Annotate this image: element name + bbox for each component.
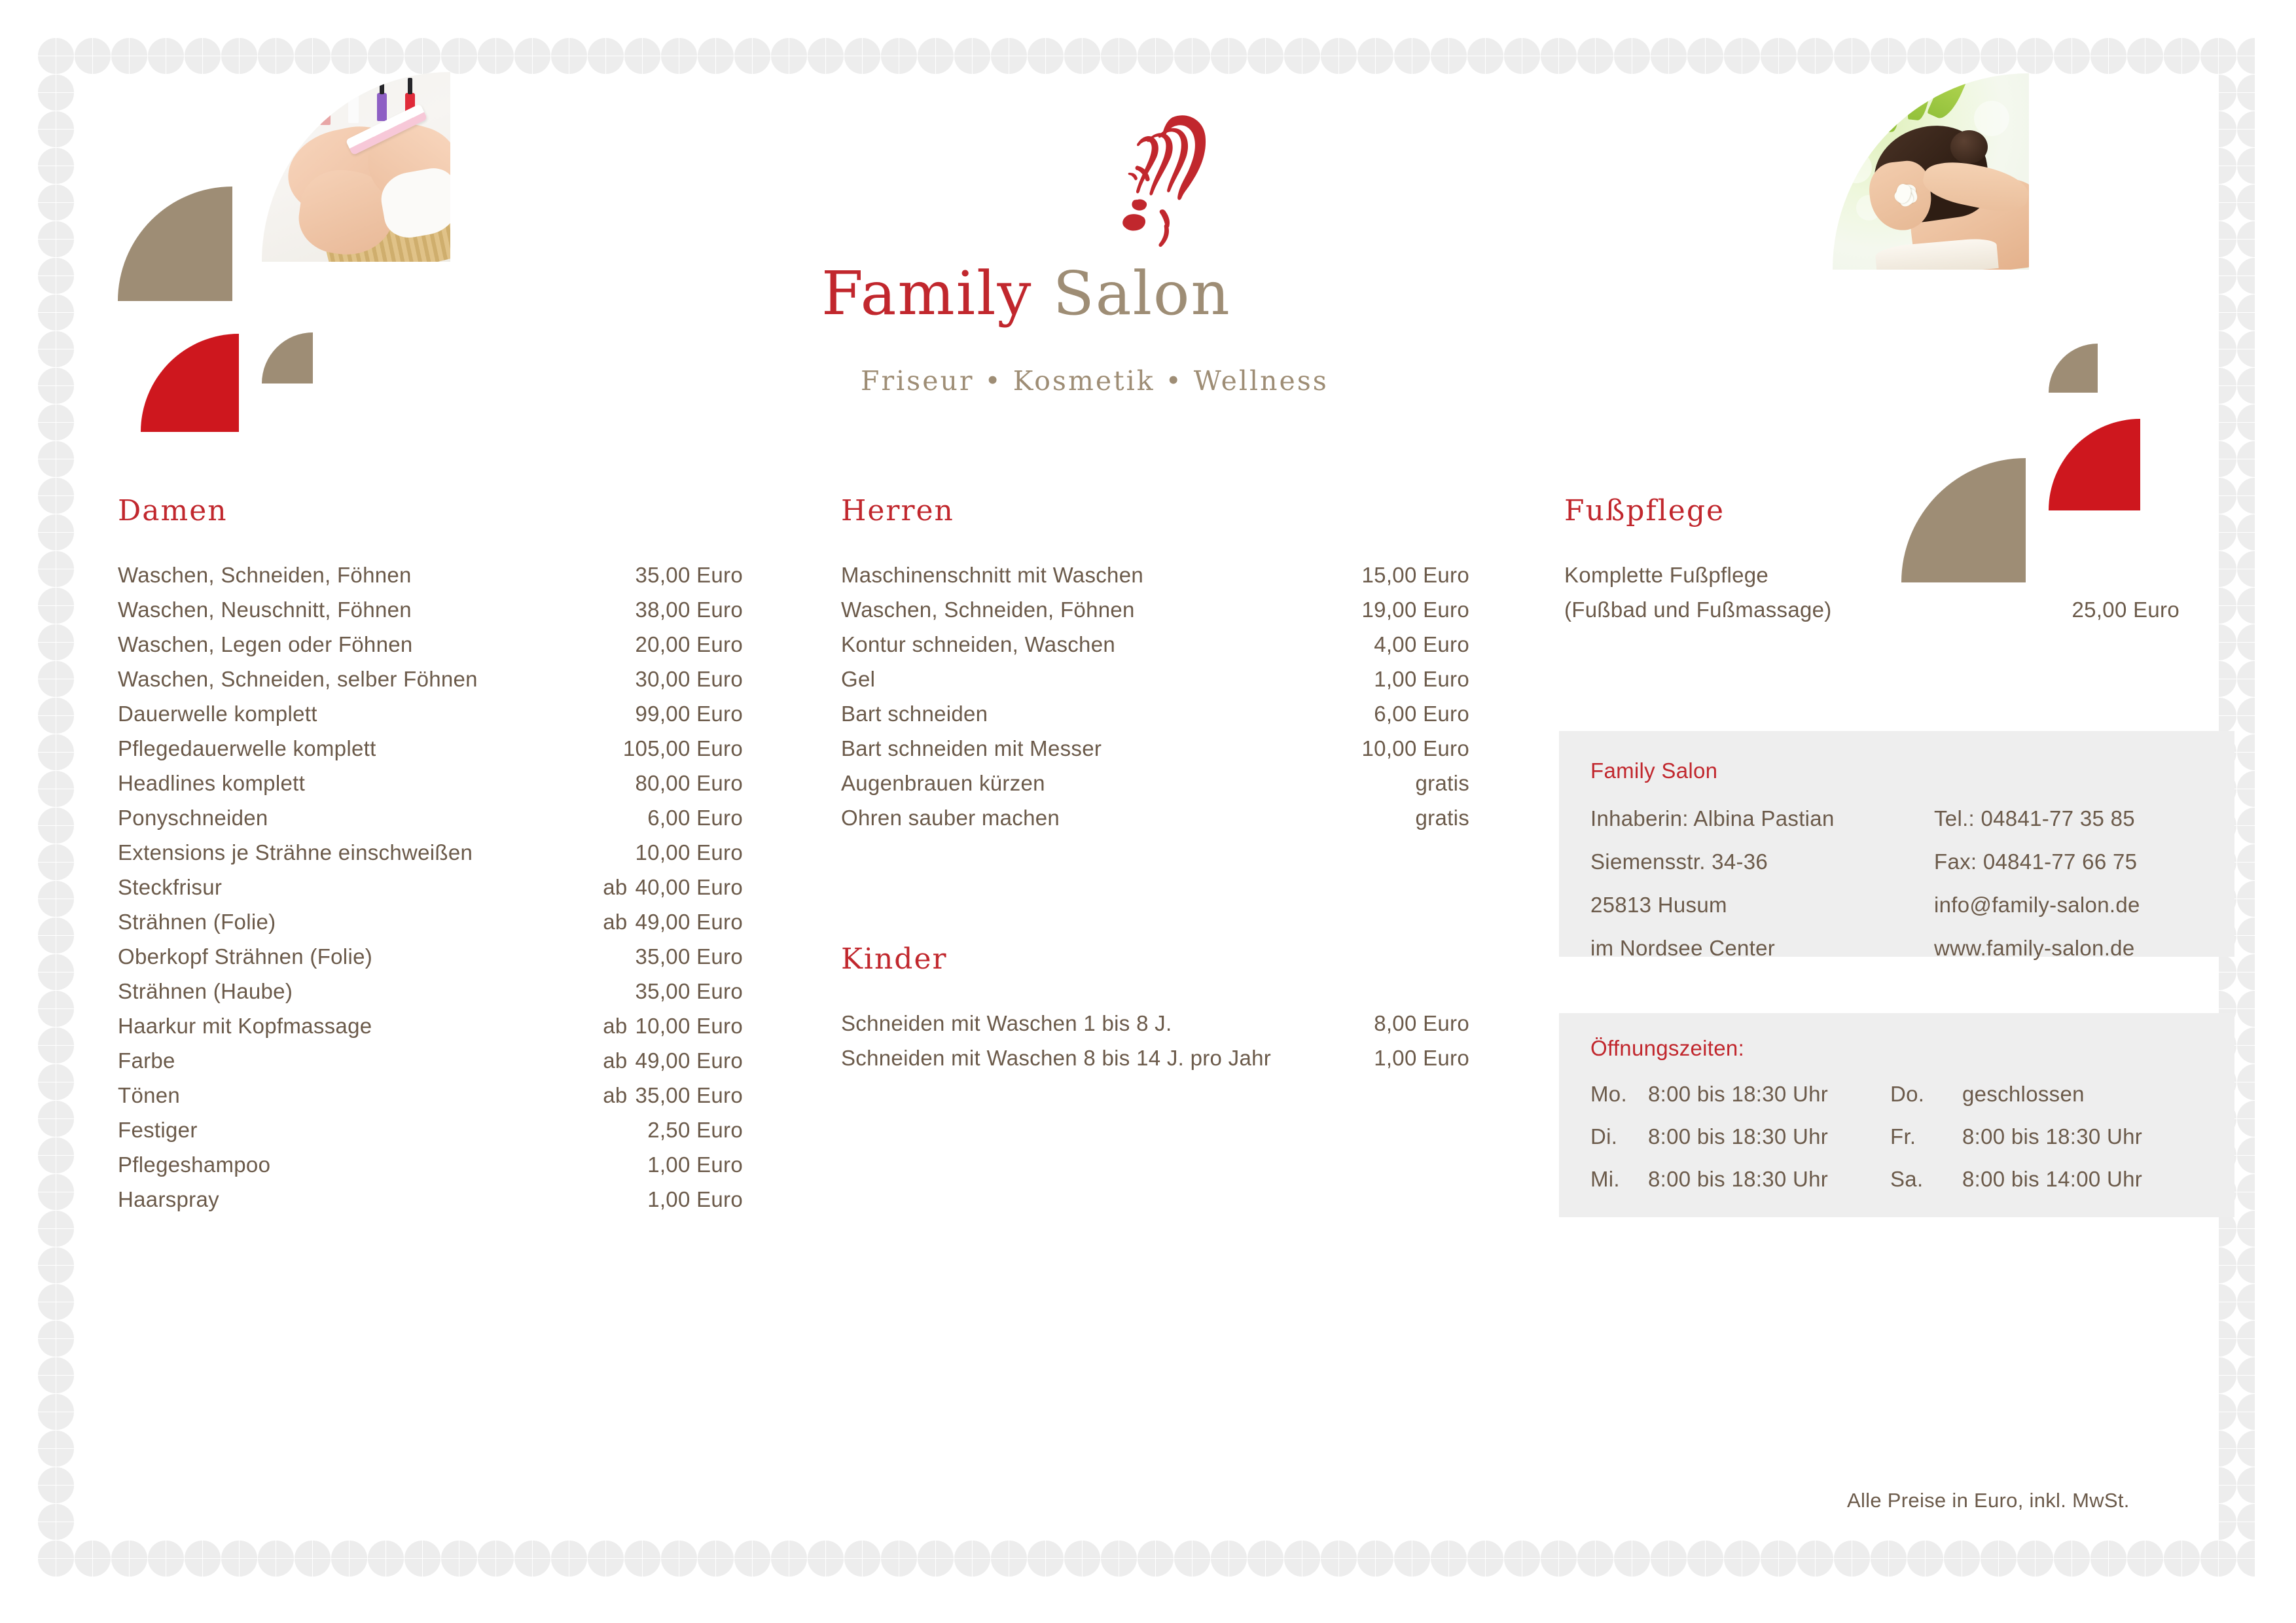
price-row: Farbeab49,00 Euro (118, 1043, 743, 1078)
decor-petal-taupe-left-small (262, 332, 313, 383)
price-row: Ohren sauber machengratis (841, 800, 1469, 835)
price-row: Maschinenschnitt mit Waschen15,00 Euro (841, 558, 1469, 592)
contact-address-line: 25813 Husum (1590, 893, 1934, 918)
brand-title: Family Salon (821, 259, 1231, 329)
price-row-label: Headlines komplett (118, 772, 628, 794)
price-row-label: Steckfrisur (118, 876, 603, 898)
price-row-label: Augenbrauen kürzen (841, 772, 1408, 794)
price-row-label: Haarkur mit Kopfmassage (118, 1015, 603, 1037)
price-row-label: Tönen (118, 1084, 603, 1106)
price-row-label: Waschen, Schneiden, Föhnen (118, 564, 628, 586)
price-row-amount: 6,00 Euro (647, 807, 743, 829)
price-row-label: Bart schneiden (841, 703, 1366, 724)
price-row-prefix: ab (603, 1084, 635, 1106)
price-row-amount: 35,00 Euro (636, 946, 743, 967)
price-row: Gel1,00 Euro (841, 662, 1469, 696)
price-row: Pflegedauerwelle komplett105,00 Euro (118, 731, 743, 766)
price-row-label: Farbe (118, 1050, 603, 1071)
contact-channel-line: info@family-salon.de (1934, 893, 2206, 918)
price-row: Oberkopf Strähnen (Folie)35,00 Euro (118, 939, 743, 974)
price-row-prefix: ab (603, 911, 635, 933)
price-row-label: Pflegedauerwelle komplett (118, 738, 615, 759)
price-row-amount: 49,00 Euro (636, 911, 743, 933)
section-herren: Herren Maschinenschnitt mit Waschen15,00… (841, 494, 1469, 835)
price-row-label: Oberkopf Strähnen (Folie) (118, 946, 628, 967)
price-row-amount: 80,00 Euro (636, 772, 743, 794)
opening-hours-time-value: 8:00 bis 14:00 Uhr (1962, 1167, 2212, 1192)
price-row-amount: 38,00 Euro (636, 599, 743, 620)
price-row: Festiger2,50 Euro (118, 1113, 743, 1147)
opening-hours-time-value: 8:00 bis 18:30 Uhr (1648, 1082, 1890, 1107)
price-row: Waschen, Schneiden, Föhnen19,00 Euro (841, 592, 1469, 627)
price-row-amount: 25,00 Euro (2072, 599, 2179, 620)
contact-channel-line: Tel.: 04841-77 35 85 (1934, 806, 2206, 831)
price-row-amount: 1,00 Euro (1374, 1047, 1469, 1069)
price-row-amount: 10,00 Euro (636, 1015, 743, 1037)
price-row-label: Ohren sauber machen (841, 807, 1408, 829)
price-row-prefix: ab (603, 1050, 635, 1071)
price-row: Bart schneiden6,00 Euro (841, 696, 1469, 731)
price-row-label: Pflegeshampoo (118, 1154, 639, 1175)
price-row-amount: 10,00 Euro (1362, 738, 1469, 759)
price-row: Haarkur mit Kopfmassageab10,00 Euro (118, 1008, 743, 1043)
price-row: Schneiden mit Waschen 8 bis 14 J. pro Ja… (841, 1041, 1469, 1075)
price-footnote: Alle Preise in Euro, inkl. MwSt. (1847, 1489, 2130, 1512)
price-row-amount: 35,00 Euro (636, 564, 743, 586)
contact-channel-line: www.family-salon.de (1934, 936, 2206, 961)
price-row-label: Waschen, Legen oder Föhnen (118, 633, 628, 655)
price-row-label: Haarspray (118, 1188, 639, 1210)
decor-petal-taupe-left-top (118, 187, 232, 301)
price-row-label: Schneiden mit Waschen 1 bis 8 J. (841, 1012, 1366, 1034)
price-row-amount: 49,00 Euro (636, 1050, 743, 1071)
price-row-amount: 19,00 Euro (1362, 599, 1469, 620)
price-row: Pflegeshampoo1,00 Euro (118, 1147, 743, 1182)
price-list-herren: Maschinenschnitt mit Waschen15,00 EuroWa… (841, 558, 1469, 835)
contact-details: Inhaberin: Albina PastianTel.: 04841-77 … (1590, 806, 2206, 961)
price-list-fusspflege: Komplette Fußpflege(Fußbad und Fußmassag… (1564, 558, 2179, 627)
price-row-label: Schneiden mit Waschen 8 bis 14 J. pro Ja… (841, 1047, 1366, 1069)
price-row-label: Ponyschneiden (118, 807, 639, 829)
price-row: Augenbrauen kürzengratis (841, 766, 1469, 800)
price-row-label: Maschinenschnitt mit Waschen (841, 564, 1354, 586)
contact-box: Family Salon Inhaberin: Albina PastianTe… (1559, 731, 2234, 957)
spa-massage-photo (1833, 73, 2029, 270)
price-row-label: Waschen, Schneiden, Föhnen (841, 599, 1354, 620)
price-row-label: Bart schneiden mit Messer (841, 738, 1354, 759)
section-damen: Damen Waschen, Schneiden, Föhnen35,00 Eu… (118, 494, 743, 1217)
price-row-prefix: ab (603, 876, 635, 898)
price-row-amount: gratis (1416, 772, 1470, 794)
brand-tagline: Friseur • Kosmetik • Wellness (861, 365, 1329, 397)
price-row-amount: 35,00 Euro (636, 1084, 743, 1106)
price-row-label: Strähnen (Folie) (118, 911, 603, 933)
price-row: Ponyschneiden6,00 Euro (118, 800, 743, 835)
price-row: (Fußbad und Fußmassage)25,00 Euro (1564, 592, 2179, 627)
section-title-damen: Damen (118, 494, 743, 527)
price-row-amount: 99,00 Euro (636, 703, 743, 724)
opening-hours-day-label: Mo. (1590, 1082, 1648, 1107)
opening-hours-time-value: 8:00 bis 18:30 Uhr (1962, 1124, 2212, 1149)
decor-petal-red-left-bottom (141, 334, 239, 432)
price-row-amount: 8,00 Euro (1374, 1012, 1469, 1034)
price-row: Strähnen (Haube)35,00 Euro (118, 974, 743, 1008)
opening-hours-time-value: geschlossen (1962, 1082, 2212, 1107)
price-row: Kontur schneiden, Waschen4,00 Euro (841, 627, 1469, 662)
price-list-damen: Waschen, Schneiden, Föhnen35,00 EuroWasc… (118, 558, 743, 1217)
price-row: Waschen, Legen oder Föhnen20,00 Euro (118, 627, 743, 662)
decor-petal-taupe-right-small (2049, 344, 2098, 393)
section-fusspflege: Fußpflege Komplette Fußpflege(Fußbad und… (1564, 494, 2179, 627)
price-row-amount: 40,00 Euro (636, 876, 743, 898)
contact-address-line: Siemensstr. 34-36 (1590, 849, 1934, 874)
price-row-label: Waschen, Schneiden, selber Föhnen (118, 668, 628, 690)
opening-hours-time-value: 8:00 bis 18:30 Uhr (1648, 1124, 1890, 1149)
opening-hours-table: Mo.8:00 bis 18:30 UhrDo.geschlossenDi.8:… (1590, 1082, 2212, 1192)
price-row: Extensions je Strähne einschweißen10,00 … (118, 835, 743, 870)
price-row: Waschen, Schneiden, selber Föhnen30,00 E… (118, 662, 743, 696)
price-row-amount: 105,00 Euro (623, 738, 743, 759)
price-row-amount: 1,00 Euro (1374, 668, 1469, 690)
manicure-photo (262, 72, 450, 262)
price-row-label: Strähnen (Haube) (118, 980, 628, 1002)
opening-hours-day-label: Mi. (1590, 1167, 1648, 1192)
section-title-fusspflege: Fußpflege (1564, 494, 2179, 527)
contact-address-line: Inhaberin: Albina Pastian (1590, 806, 1934, 831)
price-row: Strähnen (Folie)ab49,00 Euro (118, 904, 743, 939)
price-row-amount: 15,00 Euro (1362, 564, 1469, 586)
section-kinder: Kinder Schneiden mit Waschen 1 bis 8 J.8… (841, 942, 1469, 1075)
price-row-amount: 30,00 Euro (636, 668, 743, 690)
brand-title-family: Family (821, 259, 1033, 329)
price-row: Haarspray1,00 Euro (118, 1182, 743, 1217)
price-row: Dauerwelle komplett99,00 Euro (118, 696, 743, 731)
price-row-amount: 2,50 Euro (647, 1119, 743, 1141)
price-row-label: (Fußbad und Fußmassage) (1564, 599, 2064, 620)
price-row-label: Extensions je Strähne einschweißen (118, 842, 628, 863)
price-row-label: Dauerwelle komplett (118, 703, 628, 724)
section-title-herren: Herren (841, 494, 1469, 527)
opening-hours-box: Öffnungszeiten: Mo.8:00 bis 18:30 UhrDo.… (1559, 1013, 2234, 1217)
opening-hours-day-label: Sa. (1890, 1167, 1962, 1192)
price-row-amount: 6,00 Euro (1374, 703, 1469, 724)
price-row-amount: 4,00 Euro (1374, 633, 1469, 655)
price-row: Bart schneiden mit Messer10,00 Euro (841, 731, 1469, 766)
price-row-label: Kontur schneiden, Waschen (841, 633, 1366, 655)
price-row-label: Waschen, Neuschnitt, Föhnen (118, 599, 628, 620)
opening-hours-title: Öffnungszeiten: (1590, 1036, 1744, 1061)
brand-title-salon: Salon (1053, 259, 1231, 329)
price-row-label: Komplette Fußpflege (1564, 564, 2172, 586)
price-row-amount: 20,00 Euro (636, 633, 743, 655)
contact-box-title: Family Salon (1590, 758, 1717, 783)
opening-hours-day-label: Do. (1890, 1082, 1962, 1107)
price-row-amount: 10,00 Euro (636, 842, 743, 863)
price-row-amount: 1,00 Euro (647, 1188, 743, 1210)
price-row-amount: 35,00 Euro (636, 980, 743, 1002)
salon-logo-icon (1096, 111, 1240, 255)
price-row: Waschen, Neuschnitt, Föhnen38,00 Euro (118, 592, 743, 627)
opening-hours-day-label: Di. (1590, 1124, 1648, 1149)
contact-address-line: im Nordsee Center (1590, 936, 1934, 961)
price-row: Schneiden mit Waschen 1 bis 8 J.8,00 Eur… (841, 1006, 1469, 1041)
contact-channel-line: Fax: 04841-77 66 75 (1934, 849, 2206, 874)
opening-hours-day-label: Fr. (1890, 1124, 1962, 1149)
price-row-prefix: ab (603, 1015, 635, 1037)
price-row: Waschen, Schneiden, Föhnen35,00 Euro (118, 558, 743, 592)
price-row-label: Gel (841, 668, 1366, 690)
price-row-amount: gratis (1416, 807, 1470, 829)
opening-hours-time-value: 8:00 bis 18:30 Uhr (1648, 1167, 1890, 1192)
price-row: Headlines komplett80,00 Euro (118, 766, 743, 800)
section-title-kinder: Kinder (841, 942, 1469, 976)
price-row: Steckfrisurab40,00 Euro (118, 870, 743, 904)
price-row: Komplette Fußpflege (1564, 558, 2179, 592)
price-row: Tönenab35,00 Euro (118, 1078, 743, 1113)
price-list-kinder: Schneiden mit Waschen 1 bis 8 J.8,00 Eur… (841, 1006, 1469, 1075)
price-row-label: Festiger (118, 1119, 639, 1141)
price-row-amount: 1,00 Euro (647, 1154, 743, 1175)
